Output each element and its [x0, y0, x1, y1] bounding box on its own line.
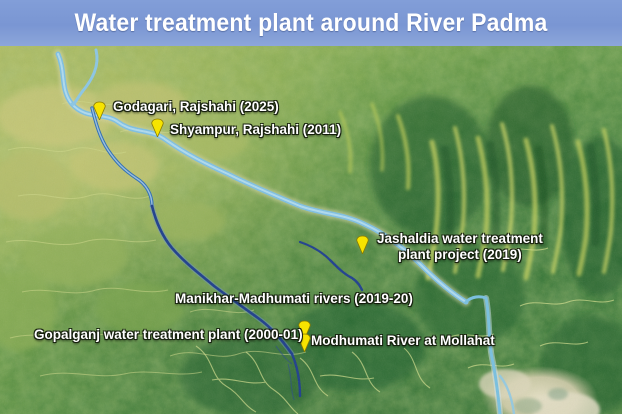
label-jashaldia-line1: Jashaldia water treatment [377, 231, 543, 246]
label-jashaldia-line2: plant project (2019) [377, 247, 543, 263]
label-manikhar-madhumati: Manikhar-Madhumati rivers (2019-20) [175, 291, 413, 307]
map-pin-jashaldia[interactable] [356, 235, 369, 254]
map-pin-godagari[interactable] [93, 101, 106, 120]
map-pin-shyampur[interactable] [151, 118, 164, 137]
label-shyampur: Shyampur, Rajshahi (2011) [170, 122, 341, 138]
pin-icon [93, 101, 106, 120]
page-title: Water treatment plant around River Padma [25, 4, 597, 42]
satellite-map[interactable]: Godagari, Rajshahi (2025) Shyampur, Rajs… [0, 46, 622, 414]
pin-icon [356, 235, 369, 254]
label-modhumati-mollahat: Modhumati River at Mollahat [311, 333, 495, 349]
title-bar: Water treatment plant around River Padma [0, 0, 622, 46]
figure-root: Water treatment plant around River Padma [0, 0, 622, 414]
pin-icon [151, 118, 164, 137]
label-godagari: Godagari, Rajshahi (2025) [113, 99, 279, 115]
label-jashaldia: Jashaldia water treatment plant project … [377, 231, 543, 263]
label-gopalganj: Gopalganj water treatment plant (2000-01… [34, 327, 303, 343]
